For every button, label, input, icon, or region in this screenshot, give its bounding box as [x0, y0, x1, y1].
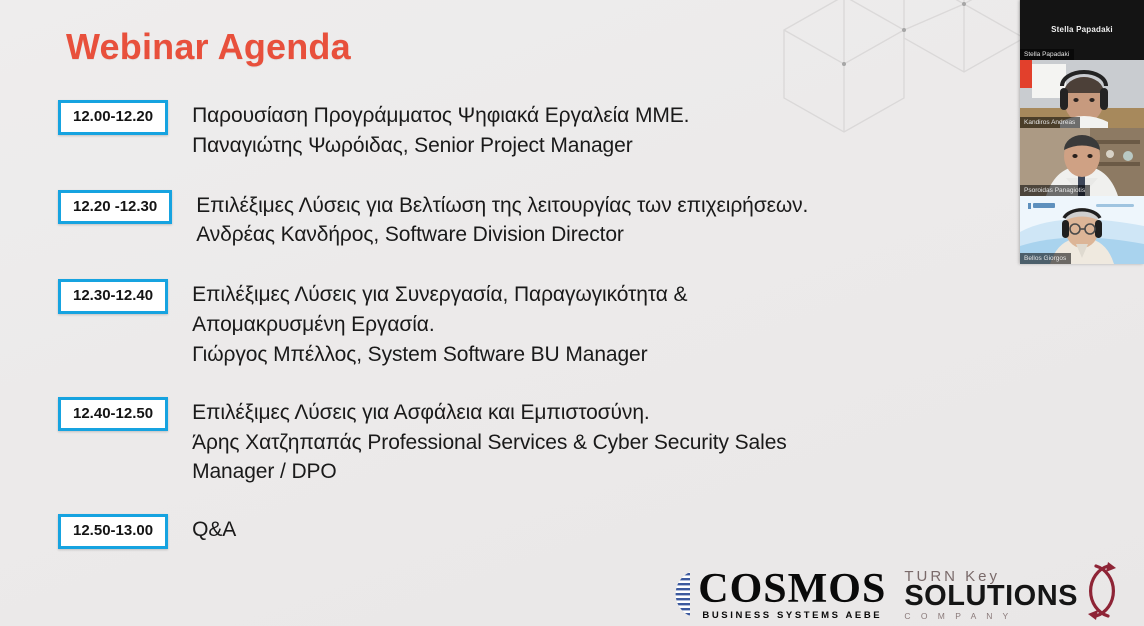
time-badge: 12.30-12.40 [58, 279, 168, 314]
logo-group: COSMOS BUSINESS SYSTEMS AEBE TURN Key SO… [644, 568, 1130, 621]
video-tile-0[interactable]: Stella Papadaki Stella Papadaki [1020, 0, 1144, 60]
turnkey-line-3: C O M P A N Y [904, 612, 1078, 621]
agenda-description: Q&A [192, 514, 236, 545]
time-badge: 12.50-13.00 [58, 514, 168, 549]
agenda-list: 12.00-12.20 Παρουσίαση Προγράμματος Ψηφι… [58, 100, 1018, 549]
cosmos-logo: COSMOS BUSINESS SYSTEMS AEBE [644, 568, 886, 621]
video-tile-center-name: Stella Papadaki [1020, 25, 1144, 34]
time-badge: 12.00-12.20 [58, 100, 168, 135]
video-tile-name: Psoroidas Panagiotis [1020, 185, 1090, 196]
video-tile-name: Kandiros Andreas [1020, 117, 1080, 128]
time-badge: 12.20 -12.30 [58, 190, 172, 225]
cosmos-wordmark: COSMOS [698, 568, 886, 610]
agenda-description: Επιλέξιμες Λύσεις για Ασφάλεια και Εμπισ… [192, 397, 787, 487]
turnkey-line-2: SOLUTIONS [904, 582, 1078, 611]
agenda-description: Παρουσίαση Προγράμματος Ψηφιακά Εργαλεία… [192, 100, 689, 161]
video-tile-name: Bellos Giorgos [1020, 253, 1071, 264]
page-title: Webinar Agenda [66, 26, 351, 68]
agenda-row: 12.00-12.20 Παρουσίαση Προγράμματος Ψηφι… [58, 100, 1018, 161]
video-tile-1[interactable]: Kandiros Andreas [1020, 60, 1144, 128]
presentation-slide: Webinar Agenda 12.00-12.20 Παρουσίαση Πρ… [0, 0, 1144, 626]
cosmos-tagline: BUSINESS SYSTEMS AEBE [698, 611, 886, 621]
video-call-panel[interactable]: Stella Papadaki Stella Papadaki Kandiros… [1020, 0, 1144, 264]
video-tile-2[interactable]: Psoroidas Panagiotis [1020, 128, 1144, 196]
agenda-row: 12.30-12.40 Επιλέξιμες Λύσεις για Συνεργ… [58, 279, 1018, 369]
agenda-description: Επιλέξιμες Λύσεις για Συνεργασία, Παραγω… [192, 279, 687, 369]
agenda-row: 12.40-12.50 Επιλέξιμες Λύσεις για Ασφάλε… [58, 397, 1018, 487]
striped-half-circle-icon [644, 568, 692, 620]
time-badge: 12.40-12.50 [58, 397, 168, 432]
agenda-row: 12.50-13.00 Q&A [58, 514, 1018, 549]
video-tile-3[interactable]: Bellos Giorgos [1020, 196, 1144, 264]
agenda-description: Επιλέξιμες Λύσεις για Βελτίωση της λειτο… [196, 190, 808, 251]
turnkey-logo: TURN Key SOLUTIONS C O M P A N Y [904, 569, 1130, 621]
agenda-row: 12.20 -12.30 Επιλέξιμες Λύσεις για Βελτί… [58, 190, 1018, 251]
video-tile-name: Stella Papadaki [1020, 49, 1074, 60]
circular-arrows-icon [1074, 558, 1130, 624]
